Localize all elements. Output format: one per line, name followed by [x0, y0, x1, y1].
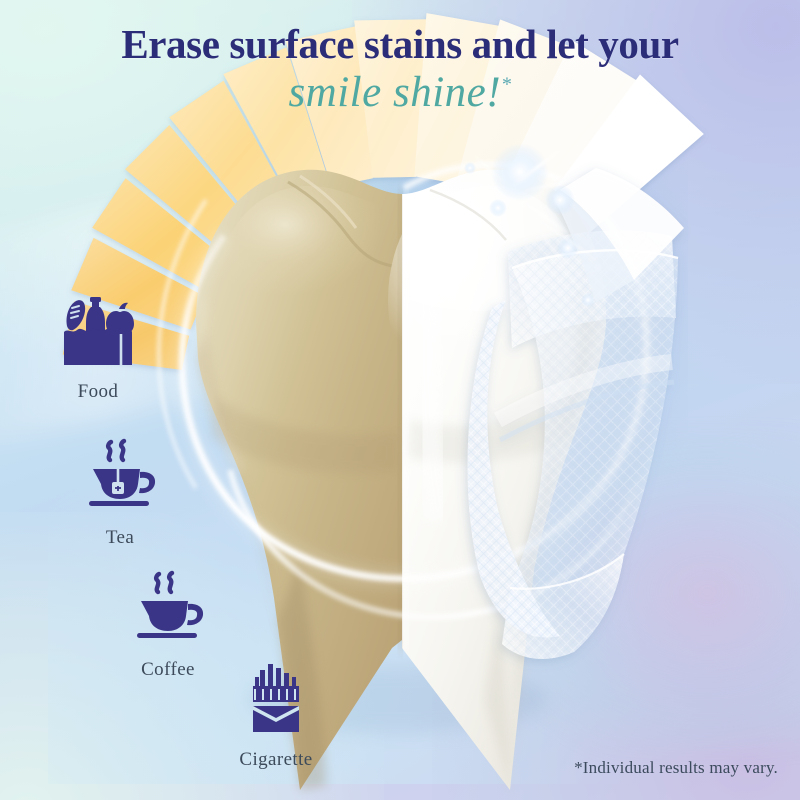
whitening-poster: Erase surface stains and let your smile …	[0, 0, 800, 800]
footnote-disclaimer: *Individual results may vary.	[574, 758, 778, 778]
stain-source-food: Food	[34, 292, 162, 403]
page-title: Erase surface stains and let your	[0, 22, 800, 66]
coffee-cup-icon	[128, 570, 208, 650]
stain-source-cigarette: Cigarette	[212, 660, 340, 771]
subtitle-text: smile shine!	[288, 69, 501, 116]
stain-label-tea: Tea	[56, 527, 184, 549]
page-subtitle: smile shine!*	[0, 70, 800, 115]
grocery-bag-icon	[58, 292, 138, 372]
cigarette-pack-icon	[236, 660, 316, 740]
subtitle-asterisk: *	[501, 74, 512, 96]
stain-label-food: Food	[34, 381, 162, 403]
headline-block: Erase surface stains and let your smile …	[0, 22, 800, 115]
strip-shape-group	[468, 168, 685, 659]
teacup-icon	[80, 438, 160, 518]
stain-source-tea: Tea	[56, 438, 184, 549]
stain-label-cigarette: Cigarette	[212, 749, 340, 771]
